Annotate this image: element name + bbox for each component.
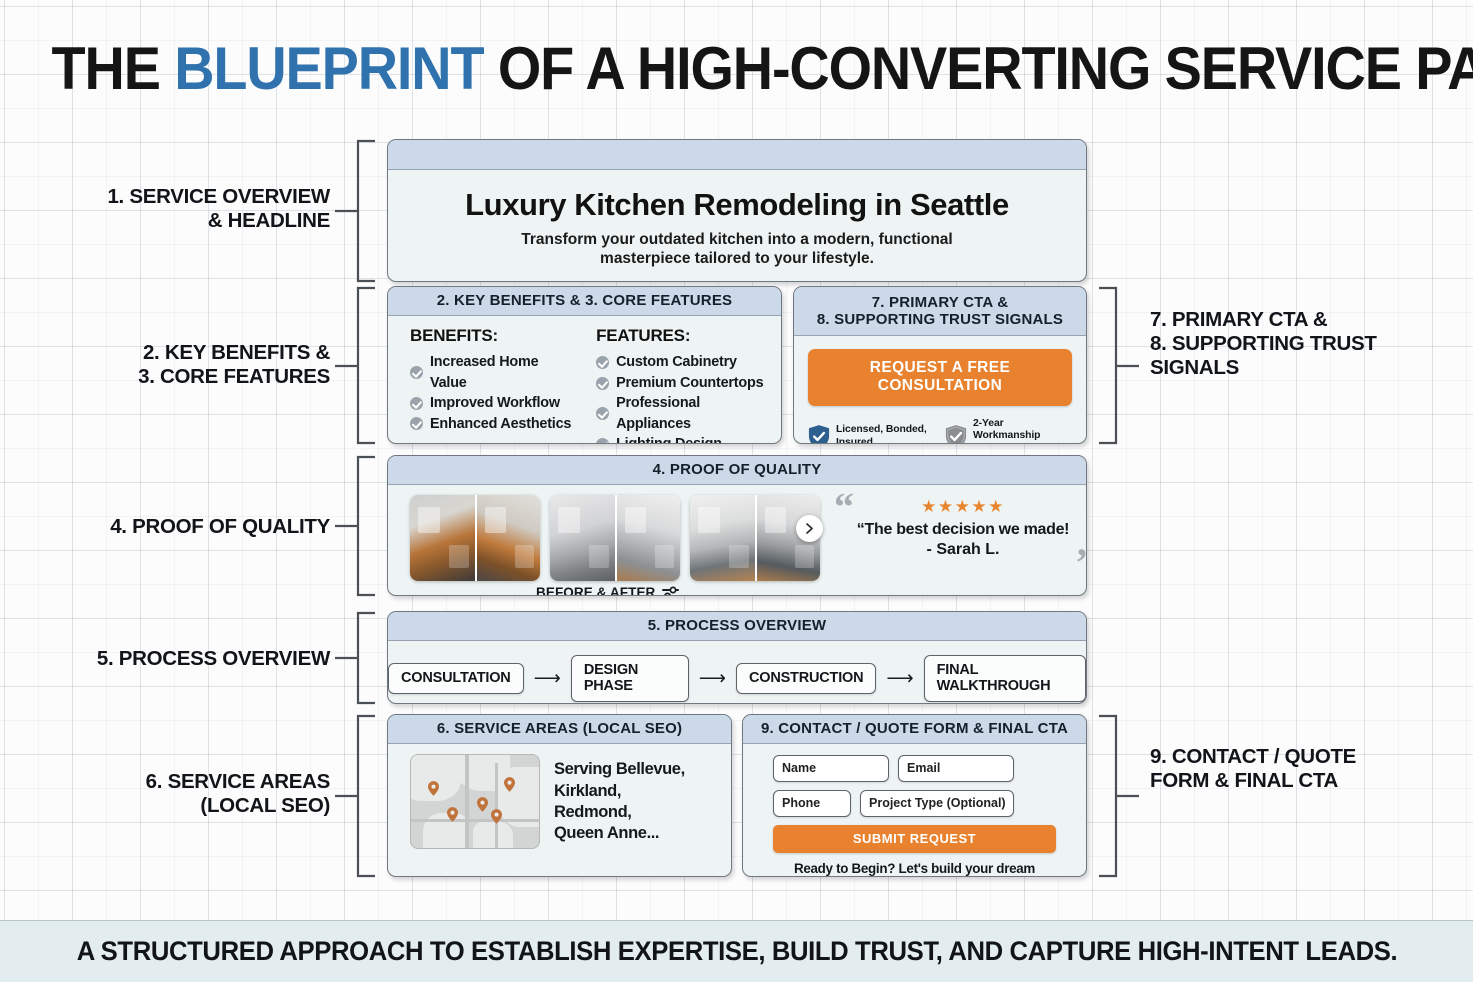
side-label-line1: 4. PROOF OF QUALITY xyxy=(30,515,330,539)
map-pin-icon xyxy=(477,797,488,812)
side-label-line1: 1. SERVICE OVERVIEW xyxy=(30,185,330,209)
panel-contact-quote-form: 9. CONTACT / QUOTE FORM & FINAL CTA SUBM… xyxy=(742,714,1087,877)
benefits-column: BENEFITS: Increased Home Value Improved … xyxy=(410,326,574,444)
panel-primary-cta-trust-signals: 7. PRIMARY CTA & 8. SUPPORTING TRUST SIG… xyxy=(793,286,1087,444)
side-label-line1: 2. KEY BENEFITS & xyxy=(30,341,330,365)
side-label-line1: 5. PROCESS OVERVIEW xyxy=(30,647,330,671)
process-step-design-phase[interactable]: DESIGN PHASE xyxy=(571,655,689,702)
process-step-consultation[interactable]: CONSULTATION xyxy=(388,663,524,694)
hero-headline: Luxury Kitchen Remodeling in Seattle xyxy=(388,187,1086,223)
areas-line2: Kirkland, xyxy=(554,781,685,802)
benefit-label: Enhanced Aesthetics xyxy=(430,414,571,434)
title-prefix: THE xyxy=(52,35,175,102)
testimonial-author: - Sarah L. xyxy=(854,541,1072,559)
panel-proof-header: 4. PROOF OF QUALITY xyxy=(388,456,1086,485)
benefits-column-title: BENEFITS: xyxy=(410,326,574,346)
panel-cta-header-line1: 7. PRIMARY CTA & xyxy=(798,294,1082,311)
contact-footnote: Ready to Begin? Let's build your dream s… xyxy=(773,861,1056,877)
service-areas-text: Serving Bellevue, Kirkland, Redmond, Que… xyxy=(554,754,685,849)
email-field[interactable] xyxy=(898,755,1014,782)
trust-signal-warranty-text: 2-Year Workmanship Guarantee xyxy=(973,418,1072,444)
panel-key-benefits-core-features: 2. KEY BENEFITS & 3. CORE FEATURES BENEF… xyxy=(387,286,782,444)
before-after-label: BEFORE & AFTER xyxy=(536,585,655,596)
testimonial: “ ★★★★★ “The best decision we made! - Sa… xyxy=(854,495,1072,581)
arrow-right-icon: ⟶ xyxy=(534,669,561,688)
trust-licensed-line1: Licensed, Bonded, xyxy=(836,424,927,437)
hero-subheadline-line1: Transform your outdated kitchen into a m… xyxy=(388,230,1086,249)
title-accent-word: BLUEPRINT xyxy=(174,35,483,102)
benefits-features-columns: BENEFITS: Increased Home Value Improved … xyxy=(388,316,781,444)
feature-label: Lighting Design xyxy=(616,434,722,444)
list-item: Enhanced Aesthetics xyxy=(410,414,574,434)
trust-licensed-line2: Insured xyxy=(836,437,927,444)
name-field[interactable] xyxy=(773,755,889,782)
before-after-caption: BEFORE & AFTER xyxy=(536,585,679,596)
map-pin-icon xyxy=(491,809,502,824)
map-pin-icon xyxy=(428,781,439,796)
map-waterway xyxy=(465,755,469,849)
side-label-contact-form: 9. CONTACT / QUOTE FORM & FINAL CTA xyxy=(1150,745,1470,793)
areas-line3: Redmond, xyxy=(554,802,685,823)
side-label-line2: 3. CORE FEATURES xyxy=(30,365,330,389)
phone-field[interactable] xyxy=(773,790,851,817)
process-steps-row: CONSULTATION ⟶ DESIGN PHASE ⟶ CONSTRUCTI… xyxy=(388,655,1086,702)
panel-areas-header: 6. SERVICE AREAS (LOCAL SEO) xyxy=(388,715,731,744)
check-circle-icon xyxy=(410,417,423,430)
gallery-image-pair[interactable] xyxy=(550,495,680,581)
check-circle-icon xyxy=(596,438,609,444)
side-label-line2: 8. SUPPORTING TRUST xyxy=(1150,332,1470,356)
panel-service-areas: 6. SERVICE AREAS (LOCAL SEO) Serving Bel… xyxy=(387,714,732,877)
hero-subheadline: Transform your outdated kitchen into a m… xyxy=(388,230,1086,269)
features-column: FEATURES: Custom Cabinetry Premium Count… xyxy=(596,326,773,444)
side-label-line1: 7. PRIMARY CTA & xyxy=(1150,308,1470,332)
star-rating: ★★★★★ xyxy=(854,497,1072,517)
page-title: THE BLUEPRINT OF A HIGH-CONVERTING SERVI… xyxy=(52,34,1422,103)
panel-process-header: 5. PROCESS OVERVIEW xyxy=(388,612,1086,641)
check-circle-icon xyxy=(596,377,609,390)
trust-warranty-line2: Guarantee xyxy=(973,443,1072,444)
list-item: Professional Appliances xyxy=(596,393,773,434)
form-row-1 xyxy=(773,755,1056,782)
features-list: Custom Cabinetry Premium Countertops Pro… xyxy=(596,352,773,444)
process-step-construction[interactable]: CONSTRUCTION xyxy=(736,663,876,694)
list-item: Lighting Design xyxy=(596,434,773,444)
quote-mark-open-icon: “ xyxy=(834,487,854,527)
map-waterway xyxy=(495,763,498,849)
arrow-right-icon: ⟶ xyxy=(886,669,913,688)
side-label-line2: FORM & FINAL CTA xyxy=(1150,769,1470,793)
areas-line4: Queen Anne... xyxy=(554,823,685,844)
shield-check-gray-icon xyxy=(945,424,967,444)
footer-band: A STRUCTURED APPROACH TO ESTABLISH EXPER… xyxy=(0,920,1473,982)
benefits-list: Increased Home Value Improved Workflow E… xyxy=(410,352,574,434)
panel-process-overview: 5. PROCESS OVERVIEW CONSULTATION ⟶ DESIG… xyxy=(387,611,1087,704)
benefit-label: Improved Workflow xyxy=(430,393,560,413)
panel-cta-header-line2: 8. SUPPORTING TRUST SIGNALS xyxy=(798,311,1082,328)
hero-subheadline-line2: masterpiece tailored to your lifestyle. xyxy=(388,249,1086,268)
service-area-map[interactable] xyxy=(410,754,540,849)
testimonial-quote: “The best decision we made! xyxy=(854,520,1072,541)
kitchen-photo-after xyxy=(475,495,540,581)
chevron-right-icon xyxy=(804,522,815,535)
feature-label: Premium Countertops xyxy=(616,373,763,393)
submit-request-button[interactable]: SUBMIT REQUEST xyxy=(773,825,1056,853)
process-step-final-walkthrough[interactable]: FINAL WALKTHROUGH xyxy=(924,655,1086,702)
trust-signals-row: Licensed, Bonded, Insured 2-Year Workman… xyxy=(794,406,1086,444)
list-item: Custom Cabinetry xyxy=(596,352,773,372)
title-suffix: OF A HIGH-CONVERTING SERVICE PAGE xyxy=(483,35,1473,102)
quote-mark-close-icon: ” xyxy=(1076,543,1087,583)
feature-label: Professional Appliances xyxy=(616,393,773,434)
check-circle-icon xyxy=(410,366,423,379)
list-item: Increased Home Value xyxy=(410,352,574,393)
request-consultation-button[interactable]: REQUEST A FREE CONSULTATION xyxy=(808,349,1072,406)
panel-proof-of-quality: 4. PROOF OF QUALITY xyxy=(387,455,1087,596)
check-circle-icon xyxy=(596,356,609,369)
kitchen-photo-before xyxy=(550,495,615,581)
trust-signal-warranty: 2-Year Workmanship Guarantee xyxy=(945,418,1072,444)
side-label-process-overview: 5. PROCESS OVERVIEW xyxy=(30,647,330,671)
trust-signal-licensed-text: Licensed, Bonded, Insured xyxy=(836,424,927,444)
kitchen-photo-before xyxy=(690,495,755,581)
map-pin-icon xyxy=(504,777,515,792)
slider-adjust-icon[interactable] xyxy=(662,586,679,596)
side-label-line1: 6. SERVICE AREAS xyxy=(30,770,330,794)
before-after-gallery[interactable] xyxy=(410,495,820,581)
side-label-line2: & HEADLINE xyxy=(30,209,330,233)
check-circle-icon xyxy=(596,407,609,420)
project-type-field[interactable] xyxy=(860,790,1014,817)
side-label-service-areas: 6. SERVICE AREAS (LOCAL SEO) xyxy=(30,770,330,818)
side-label-line2: (LOCAL SEO) xyxy=(30,794,330,818)
footer-text: A STRUCTURED APPROACH TO ESTABLISH EXPER… xyxy=(76,936,1396,967)
areas-line1: Serving Bellevue, xyxy=(554,759,685,780)
panel-service-overview: Luxury Kitchen Remodeling in Seattle Tra… xyxy=(387,139,1087,282)
side-label-primary-cta: 7. PRIMARY CTA & 8. SUPPORTING TRUST SIG… xyxy=(1150,308,1470,381)
side-label-key-benefits: 2. KEY BENEFITS & 3. CORE FEATURES xyxy=(30,341,330,389)
trust-warranty-line1: 2-Year Workmanship xyxy=(973,418,1072,443)
map-landmass xyxy=(497,767,540,827)
feature-label: Custom Cabinetry xyxy=(616,352,737,372)
side-label-proof-of-quality: 4. PROOF OF QUALITY xyxy=(30,515,330,539)
map-pin-icon xyxy=(447,807,458,822)
map-waterway xyxy=(411,819,540,822)
kitchen-photo-after xyxy=(615,495,680,581)
map-landmass xyxy=(473,821,513,849)
side-label-service-overview: 1. SERVICE OVERVIEW & HEADLINE xyxy=(30,185,330,233)
side-label-line1: 9. CONTACT / QUOTE xyxy=(1150,745,1470,769)
proof-body: BEFORE & AFTER “ ★★★★★ “The best decisio… xyxy=(388,485,1086,581)
panel-hero-header-band xyxy=(388,140,1086,170)
kitchen-photo-before xyxy=(410,495,475,581)
list-item: Improved Workflow xyxy=(410,393,574,413)
arrow-right-icon: ⟶ xyxy=(699,669,726,688)
trust-signal-licensed: Licensed, Bonded, Insured xyxy=(808,418,935,444)
list-item: Premium Countertops xyxy=(596,373,773,393)
panel-contact-header: 9. CONTACT / QUOTE FORM & FINAL CTA xyxy=(743,715,1086,744)
side-label-line3: SIGNALS xyxy=(1150,356,1470,380)
check-circle-icon xyxy=(410,397,423,410)
areas-body: Serving Bellevue, Kirkland, Redmond, Que… xyxy=(388,744,731,849)
panel-benefits-header: 2. KEY BENEFITS & 3. CORE FEATURES xyxy=(388,287,781,316)
form-row-2 xyxy=(773,790,1056,817)
panel-cta-header: 7. PRIMARY CTA & 8. SUPPORTING TRUST SIG… xyxy=(794,287,1086,336)
quote-form: SUBMIT REQUEST Ready to Begin? Let's bui… xyxy=(743,744,1086,877)
benefit-label: Increased Home Value xyxy=(430,352,574,393)
gallery-image-pair[interactable] xyxy=(410,495,540,581)
features-column-title: FEATURES: xyxy=(596,326,773,346)
shield-check-blue-icon xyxy=(808,424,830,444)
